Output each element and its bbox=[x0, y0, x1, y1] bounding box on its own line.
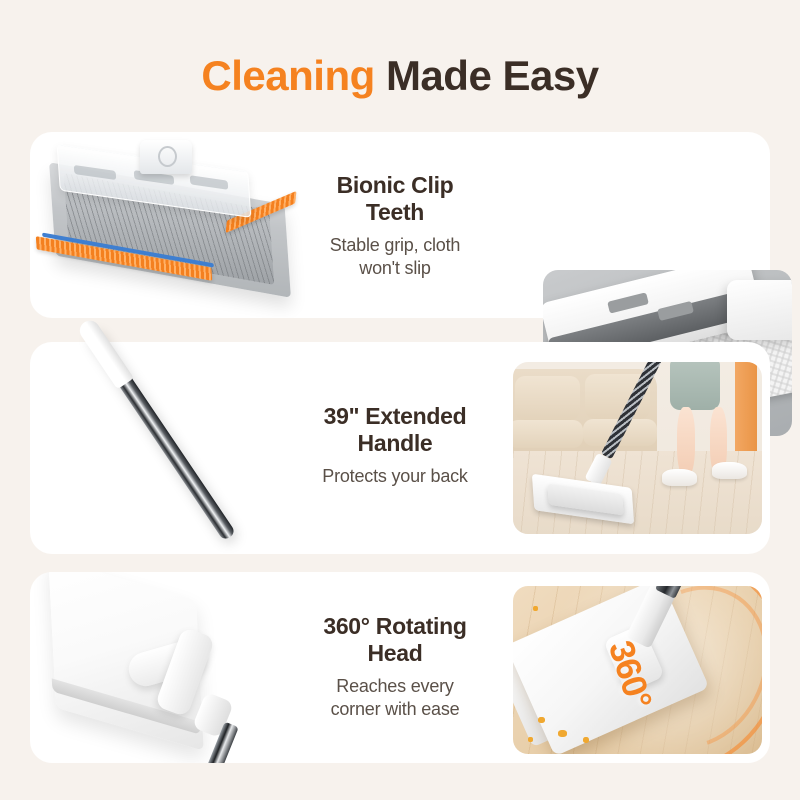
feature-2-heading-line1: 39" Extended bbox=[324, 403, 467, 429]
feature-3-subtext-line1: Reaches every bbox=[336, 676, 453, 696]
page-title-rest: Made Easy bbox=[375, 52, 599, 99]
feature-1-text-block: Bionic Clip Teeth Stable grip, cloth won… bbox=[280, 172, 510, 280]
sofa-cushion-back-left bbox=[515, 376, 580, 421]
feature-1-subtext: Stable grip, cloth won't slip bbox=[280, 234, 510, 279]
feature-1-heading-line2: Teeth bbox=[366, 199, 424, 225]
clip-ring-icon bbox=[158, 146, 177, 167]
rotating-head-demo-photo: 360° bbox=[513, 586, 762, 754]
orange-curtain bbox=[735, 362, 757, 455]
sofa-cushion-seat-left bbox=[513, 420, 583, 448]
feature-2-subtext: Protects your back bbox=[280, 465, 510, 488]
infographic-page: Cleaning Made Easy bbox=[0, 0, 800, 800]
mop-head-clip-teeth-illustration bbox=[30, 132, 320, 318]
feature-3-heading: 360° Rotating Head bbox=[280, 613, 510, 666]
feature-2-heading: 39" Extended Handle bbox=[280, 403, 510, 456]
page-title: Cleaning Made Easy bbox=[0, 52, 800, 100]
slipper-right bbox=[712, 462, 747, 479]
mop-plate-swivel-joint-illustration bbox=[30, 572, 320, 763]
debris-crumb-3 bbox=[583, 737, 589, 743]
feature-2-subtext-line1: Protects your back bbox=[322, 466, 467, 486]
feature-1-heading-line1: Bionic Clip bbox=[337, 172, 454, 198]
feature-2-heading-line2: Handle bbox=[358, 430, 433, 456]
feature-1-subtext-line2: won't slip bbox=[359, 258, 430, 278]
slipper-left bbox=[662, 469, 697, 486]
person-leg-left bbox=[677, 407, 694, 476]
feature-1-subtext-line1: Stable grip, cloth bbox=[330, 235, 460, 255]
feature-1-heading: Bionic Clip Teeth bbox=[280, 172, 510, 225]
debris-crumb-5 bbox=[533, 606, 538, 611]
feature-3-subtext-line2: corner with ease bbox=[331, 699, 460, 719]
person-dress bbox=[670, 362, 720, 410]
mop-head-end-block bbox=[727, 280, 792, 340]
feature-2-text-block: 39" Extended Handle Protects your back bbox=[280, 403, 510, 488]
feature-3-text-block: 360° Rotating Head Reaches every corner … bbox=[280, 613, 510, 721]
debris-crumb-1 bbox=[538, 717, 545, 723]
feature-3-heading-line2: Head bbox=[367, 640, 422, 666]
white-handle-grip bbox=[76, 317, 134, 390]
debris-crumb-4 bbox=[528, 737, 533, 742]
feature-3-subtext: Reaches every corner with ease bbox=[280, 675, 510, 720]
debris-crumb-2 bbox=[558, 730, 567, 737]
woman-mopping-floor-photo bbox=[513, 362, 762, 534]
page-title-accent: Cleaning bbox=[201, 52, 374, 99]
feature-3-heading-line1: 360° Rotating bbox=[323, 613, 466, 639]
